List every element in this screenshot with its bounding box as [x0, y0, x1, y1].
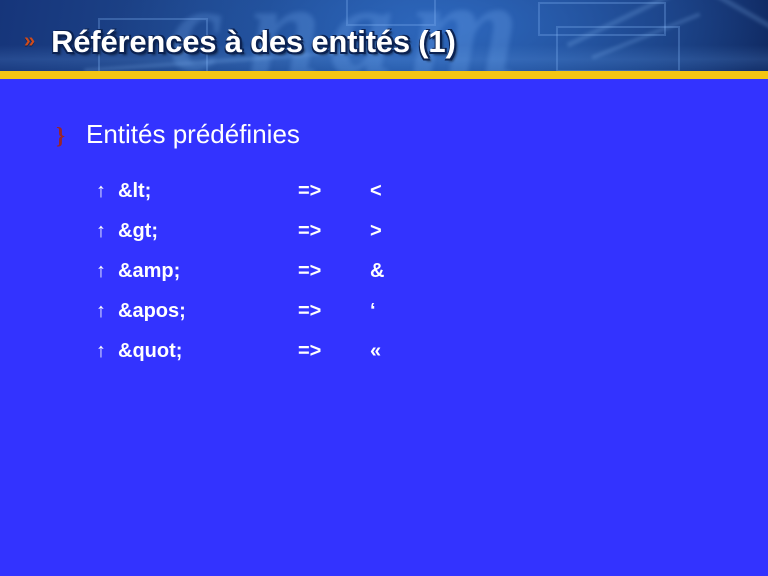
entity-arrow: =>: [298, 211, 370, 251]
entity-name: &quot;: [118, 331, 298, 371]
row-bullet-icon: ↑: [96, 291, 118, 331]
entity-result: <: [370, 171, 430, 211]
accent-rule: [0, 71, 768, 79]
title-bullet-icon: »: [24, 31, 35, 51]
bullet-level1: } Entités prédéfinies: [56, 121, 300, 147]
slide-body: } Entités prédéfinies ↑ &lt; => < ↑ &gt;…: [0, 79, 768, 576]
entity-arrow: =>: [298, 331, 370, 371]
table-row: ↑ &gt; => >: [96, 211, 430, 251]
slide-title-row: » Références à des entités (1): [0, 18, 768, 64]
row-bullet-icon: ↑: [96, 211, 118, 251]
entity-result: &: [370, 251, 430, 291]
entity-name: &lt;: [118, 171, 298, 211]
entity-arrow: =>: [298, 171, 370, 211]
entity-arrow: =>: [298, 291, 370, 331]
entity-result: «: [370, 331, 430, 371]
level1-bullet-icon: }: [56, 124, 70, 147]
table-row: ↑ &lt; => <: [96, 171, 430, 211]
slide-canvas: c n a m » Références à des entités (1) }…: [0, 0, 768, 576]
level1-heading: Entités prédéfinies: [86, 121, 300, 147]
row-bullet-icon: ↑: [96, 251, 118, 291]
entity-name: &amp;: [118, 251, 298, 291]
entity-name: &apos;: [118, 291, 298, 331]
table-row: ↑ &amp; => &: [96, 251, 430, 291]
table-row: ↑ &apos; => ‘: [96, 291, 430, 331]
page-title: Références à des entités (1): [51, 26, 455, 57]
entity-name: &gt;: [118, 211, 298, 251]
entity-result: >: [370, 211, 430, 251]
row-bullet-icon: ↑: [96, 171, 118, 211]
predefined-entities-table: ↑ &lt; => < ↑ &gt; => > ↑ &amp; => &: [96, 171, 430, 371]
row-bullet-icon: ↑: [96, 331, 118, 371]
table-row: ↑ &quot; => «: [96, 331, 430, 371]
entity-arrow: =>: [298, 251, 370, 291]
entity-result: ‘: [370, 291, 430, 331]
entity-table-body: ↑ &lt; => < ↑ &gt; => > ↑ &amp; => &: [96, 171, 430, 371]
